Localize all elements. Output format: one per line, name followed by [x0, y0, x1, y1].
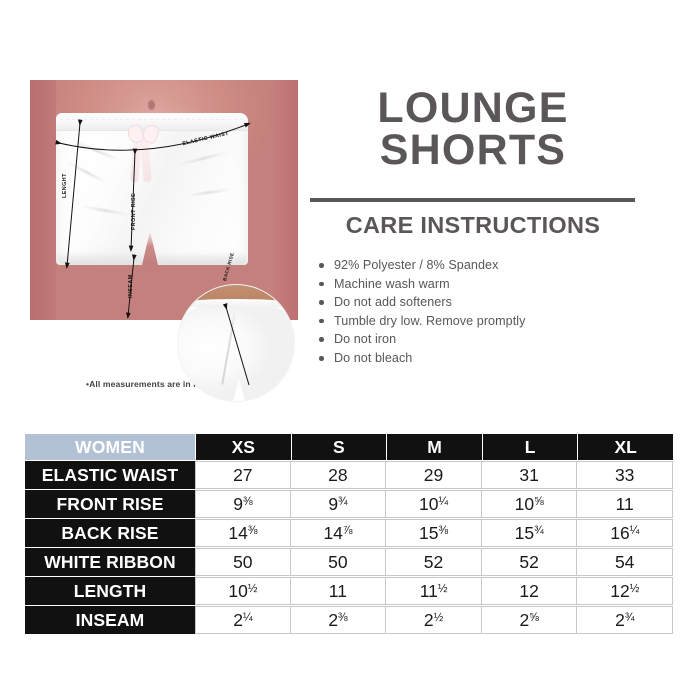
measurement-cell: 15⅜: [386, 519, 482, 547]
fraction-glyph: ⅞: [343, 525, 352, 537]
table-corner-label: WOMEN: [25, 434, 195, 460]
care-instruction-item: Machine wash warm: [316, 275, 636, 294]
bullet-icon: [319, 300, 324, 305]
fraction-glyph: ⅜: [243, 496, 252, 508]
measurement-cell: 16¼: [577, 519, 673, 547]
navel-detail: [148, 100, 155, 110]
product-title-line2: SHORTS: [308, 130, 638, 172]
fraction-glyph: ½: [630, 583, 639, 595]
size-table-body: ELASTIC WAIST2728293133FRONT RISE9⅜9¾10¼…: [25, 461, 673, 634]
table-row: BACK RISE14⅜14⅞15⅜15¾16¼: [25, 519, 673, 547]
measurement-row-label: LENGTH: [25, 577, 195, 605]
measurement-cell: 10½: [195, 577, 291, 605]
measurement-cell: 2½: [386, 606, 482, 634]
fraction-glyph: ⅜: [248, 525, 257, 537]
back-view-inset: [178, 285, 294, 401]
size-column-header: S: [291, 434, 387, 460]
measurement-row-label: INSEAM: [25, 606, 195, 634]
arrow-back-rise: [178, 285, 294, 401]
fraction-glyph: ½: [438, 583, 447, 595]
care-instruction-text: Do not add softeners: [334, 295, 452, 309]
photo-left-edge: [30, 80, 56, 320]
measurement-cell: 31: [482, 461, 578, 489]
fraction-glyph: ⅝: [534, 496, 543, 508]
label-front-rise: FRONT RISE: [131, 193, 137, 230]
measurement-cell: 15¾: [482, 519, 578, 547]
table-row: ELASTIC WAIST2728293133: [25, 461, 673, 489]
bullet-icon: [319, 282, 324, 287]
measurement-row-label: FRONT RISE: [25, 490, 195, 518]
size-column-header: XL: [577, 434, 673, 460]
bullet-icon: [319, 263, 324, 268]
measurement-cell: 2⅜: [291, 606, 387, 634]
measurement-cell: 9⅜: [195, 490, 291, 518]
bow-tail: [140, 138, 151, 182]
care-instructions-heading: CARE INSTRUCTIONS: [308, 212, 638, 239]
fraction-glyph: ¾: [338, 496, 347, 508]
measurement-cell: 33: [577, 461, 673, 489]
care-instruction-text: Do not bleach: [334, 351, 412, 365]
care-instruction-item: Do not add softeners: [316, 293, 636, 312]
measurement-cell: 11: [291, 577, 387, 605]
fraction-glyph: ½: [248, 583, 257, 595]
measurement-cell: 52: [386, 548, 482, 576]
measurement-cell: 2¼: [195, 606, 291, 634]
measurement-cell: 2⅝: [482, 606, 578, 634]
photo-right-edge: [274, 80, 298, 320]
size-column-header: L: [482, 434, 578, 460]
fraction-glyph: ¼: [243, 612, 252, 624]
bullet-icon: [319, 319, 324, 324]
care-instruction-item: Do not iron: [316, 330, 636, 349]
table-row: LENGTH10½1111½1212½: [25, 577, 673, 605]
measurement-cell: 14⅜: [195, 519, 291, 547]
measurement-cell: 52: [482, 548, 578, 576]
measurement-cell: 14⅞: [291, 519, 387, 547]
measurement-cell: 12: [482, 577, 578, 605]
fraction-glyph: ⅜: [338, 612, 347, 624]
care-instruction-item: Do not bleach: [316, 349, 636, 368]
care-instruction-text: Machine wash warm: [334, 277, 450, 291]
drawstring-bow: [128, 125, 158, 183]
measurement-cell: 10⅝: [482, 490, 578, 518]
care-instruction-text: Tumble dry low. Remove promptly: [334, 314, 525, 328]
measurement-cell: 2¾: [577, 606, 673, 634]
size-column-header: XS: [195, 434, 291, 460]
fraction-glyph: ¼: [439, 496, 448, 508]
care-instruction-text: 92% Polyester / 8% Spandex: [334, 258, 498, 272]
label-length: LENGHT: [62, 173, 68, 198]
shorts-hem: [58, 253, 142, 265]
fraction-glyph: ¼: [630, 525, 639, 537]
measurement-cell: 54: [577, 548, 673, 576]
care-instructions-list: 92% Polyester / 8% SpandexMachine wash w…: [316, 256, 636, 368]
measurement-cell: 29: [386, 461, 482, 489]
measurement-cell: 27: [195, 461, 291, 489]
bullet-icon: [319, 337, 324, 342]
product-figure: ELASTIC WAIST LENGHT FRONT RISE INSEAM B…: [30, 80, 298, 320]
title-divider: [310, 198, 635, 202]
measurement-row-label: ELASTIC WAIST: [25, 461, 195, 489]
table-row: FRONT RISE9⅜9¾10¼10⅝11: [25, 490, 673, 518]
measurement-row-label: WHITE RIBBON: [25, 548, 195, 576]
measurement-cell: 50: [195, 548, 291, 576]
fraction-glyph: ¾: [534, 525, 543, 537]
fraction-glyph: ⅝: [529, 612, 538, 624]
care-instruction-item: Tumble dry low. Remove promptly: [316, 312, 636, 331]
title-block: LOUNGE SHORTS: [308, 88, 638, 171]
product-photo: [30, 80, 298, 320]
measurement-cell: 50: [291, 548, 387, 576]
label-inseam: INSEAM: [128, 274, 134, 298]
size-chart-table: WOMEN XSSMLXL ELASTIC WAIST2728293133FRO…: [25, 433, 673, 635]
care-instruction-item: 92% Polyester / 8% Spandex: [316, 256, 636, 275]
product-title-line1: LOUNGE: [308, 88, 638, 130]
size-column-header: M: [386, 434, 482, 460]
fraction-glyph: ½: [434, 612, 443, 624]
measurement-cell: 12½: [577, 577, 673, 605]
measurement-cell: 28: [291, 461, 387, 489]
measurement-cell: 9¾: [291, 490, 387, 518]
table-row: INSEAM2¼2⅜2½2⅝2¾: [25, 606, 673, 634]
measurement-cell: 11: [577, 490, 673, 518]
fraction-glyph: ¾: [625, 612, 634, 624]
header-section: ELASTIC WAIST LENGHT FRONT RISE INSEAM B…: [0, 0, 700, 420]
measurement-row-label: BACK RISE: [25, 519, 195, 547]
care-instruction-text: Do not iron: [334, 332, 396, 346]
measurement-cell: 11½: [386, 577, 482, 605]
table-row: WHITE RIBBON5050525254: [25, 548, 673, 576]
measurement-cell: 10¼: [386, 490, 482, 518]
fraction-glyph: ⅜: [439, 525, 448, 537]
table-header-row: WOMEN XSSMLXL: [25, 434, 673, 460]
bullet-icon: [319, 356, 324, 361]
